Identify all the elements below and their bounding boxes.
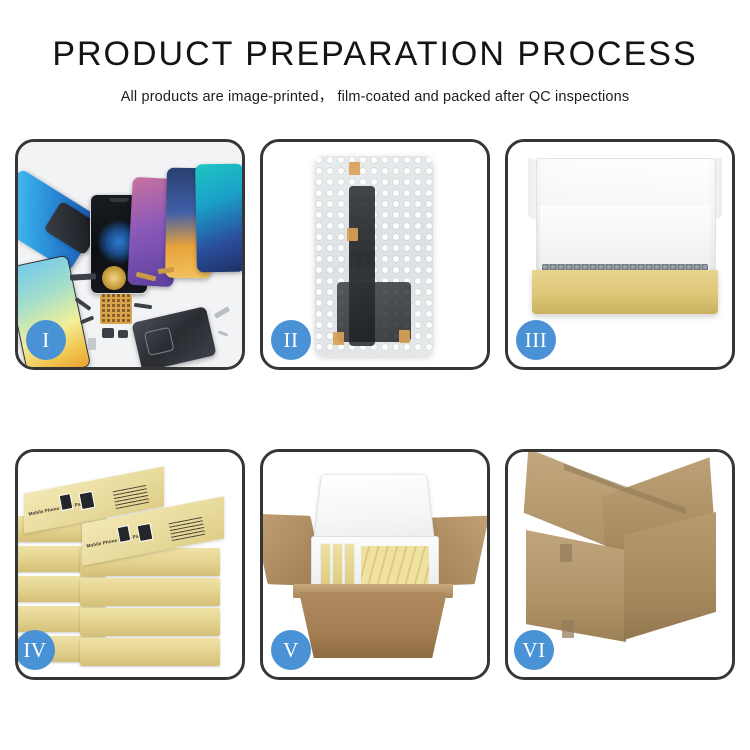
- step-badge-1: I: [26, 320, 66, 360]
- carton-tape-upper: [560, 544, 572, 562]
- bubble-wrap-pouch: [315, 156, 433, 356]
- box-label-phone-image: [137, 523, 154, 542]
- seal-tape-bottom-left: [333, 332, 344, 345]
- stacked-box: [80, 638, 220, 666]
- page-header: PRODUCT PREPARATION PROCESS All products…: [0, 0, 750, 106]
- yellow-box-upright: [321, 544, 330, 586]
- process-step-panel-3: III: [505, 139, 735, 370]
- page-subtitle: All products are image-printed， film-coa…: [0, 85, 750, 106]
- stacked-box: [80, 608, 220, 636]
- carton-tape-lower: [562, 620, 574, 638]
- camera-module-part: [102, 328, 114, 338]
- teal-display-phone: [195, 164, 242, 273]
- process-step-grid: I II III: [15, 139, 735, 680]
- step-badge-3: III: [516, 320, 556, 360]
- yellow-box-upright: [345, 544, 354, 586]
- step-badge-6: VI: [514, 630, 554, 670]
- ic-chip-grid: [100, 294, 132, 324]
- yellow-box-upright: [333, 544, 342, 586]
- step-badge-5: V: [271, 630, 311, 670]
- yellow-boxes-stacked-flat: [361, 546, 429, 586]
- speaker-part: [118, 330, 128, 338]
- process-step-panel-2: II: [260, 139, 490, 370]
- seal-tape-bottom-right: [399, 330, 410, 343]
- seal-tape-middle: [347, 228, 358, 241]
- process-step-panel-4: Mobile Phone Spare Parts Mobile Phone Sp…: [15, 449, 245, 680]
- process-step-panel-1: I: [15, 139, 245, 370]
- process-step-panel-6: VI: [505, 449, 735, 680]
- gold-coil-part: [102, 266, 126, 290]
- sim-tray-part: [88, 338, 96, 350]
- carton-front-face: [299, 592, 447, 658]
- step-badge-4: IV: [15, 630, 55, 670]
- seal-tape-top: [349, 162, 360, 175]
- box-label-phone-image: [79, 491, 96, 510]
- process-step-panel-5: V: [260, 449, 490, 680]
- yellow-box-tray: [532, 270, 718, 314]
- stacked-box: [80, 578, 220, 606]
- notch-cutout: [109, 198, 129, 202]
- page-title: PRODUCT PREPARATION PROCESS: [0, 36, 750, 73]
- step-badge-2: II: [271, 320, 311, 360]
